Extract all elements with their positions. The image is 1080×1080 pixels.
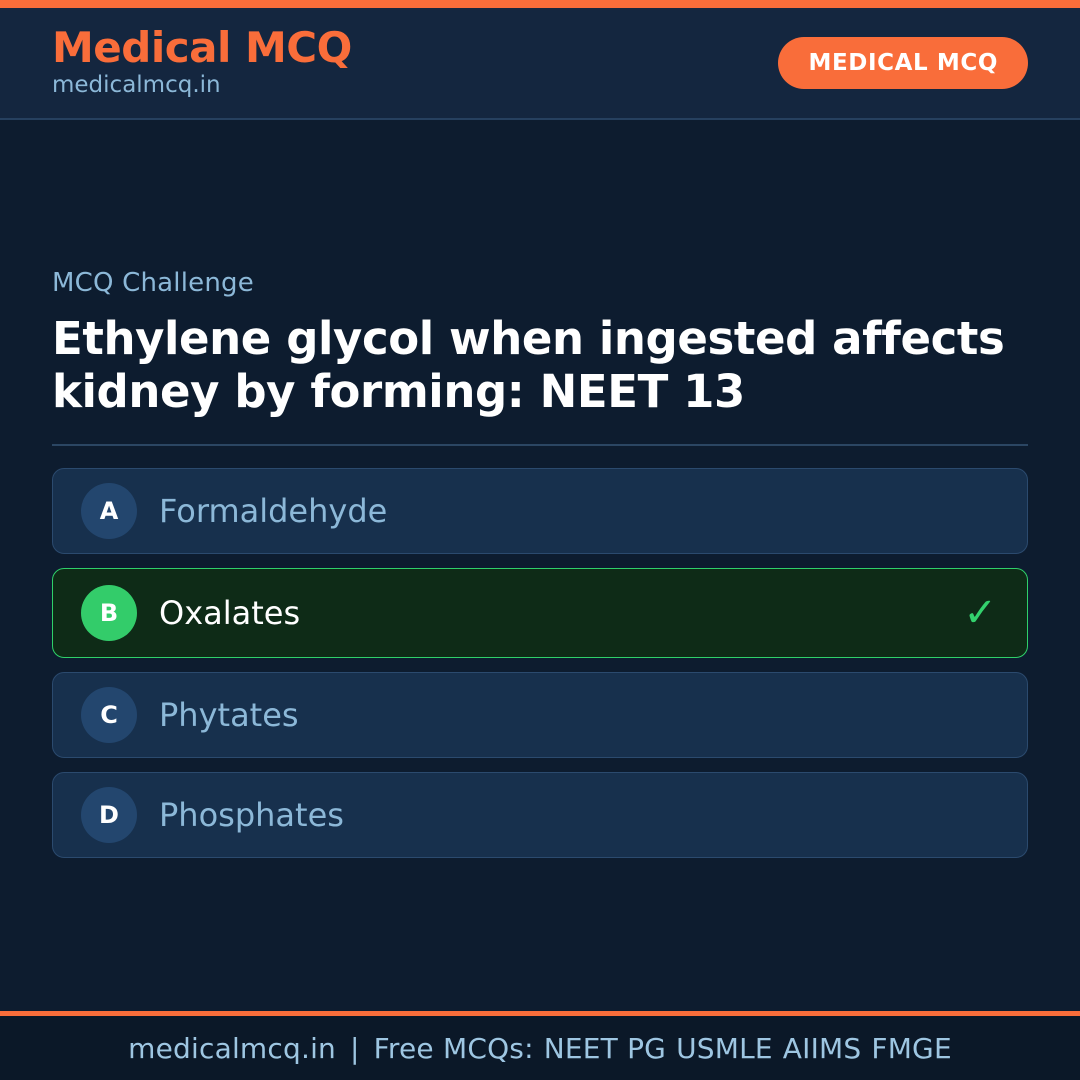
footer-exam-usmle: USMLE [666,1032,773,1065]
page-header: Medical MCQ medicalmcq.in MEDICAL MCQ [0,8,1080,120]
footer-exam-neet-pg: NEET PG [534,1032,666,1065]
option-letter-c: C [81,687,137,743]
option-row-c[interactable]: C Phytates ✓ [52,672,1028,758]
option-row-d[interactable]: D Phosphates ✓ [52,772,1028,858]
check-icon: ✓ [963,593,997,633]
option-text-c: Phytates [159,698,299,733]
top-accent-bar [0,0,1080,8]
brand-subtitle: medicalmcq.in [52,71,352,100]
options-list: A Formaldehyde ✓ B Oxalates ✓ C Phytates… [52,468,1028,858]
footer-text: medicalmcq.in|Free MCQs:NEET PGUSMLEAIIM… [128,1032,952,1065]
footer-label: Free MCQs: [374,1032,534,1065]
main-content: MCQ Challenge Ethylene glycol when inges… [0,120,1080,1011]
page-footer: medicalmcq.in|Free MCQs:NEET PGUSMLEAIIM… [0,1011,1080,1080]
option-letter-d: D [81,787,137,843]
footer-bar: medicalmcq.in|Free MCQs:NEET PGUSMLEAIIM… [0,1016,1080,1080]
footer-site: medicalmcq.in [128,1032,336,1065]
option-text-d: Phosphates [159,798,344,833]
brand-title: Medical MCQ [52,26,352,71]
option-letter-a: A [81,483,137,539]
question-divider [52,444,1028,446]
brand: Medical MCQ medicalmcq.in [52,26,352,100]
option-text-b: Oxalates [159,596,300,631]
option-text-a: Formaldehyde [159,494,387,529]
eyebrow-label: MCQ Challenge [52,268,1028,299]
question-text: Ethylene glycol when ingested affects ki… [52,313,1007,418]
footer-separator: | [336,1032,374,1065]
mcq-card: Medical MCQ medicalmcq.in MEDICAL MCQ MC… [0,0,1080,1080]
option-row-b[interactable]: B Oxalates ✓ [52,568,1028,658]
footer-exam-fmge: FMGE [861,1032,951,1065]
footer-exam-aiims: AIIMS [773,1032,862,1065]
medical-mcq-badge: MEDICAL MCQ [778,37,1028,89]
option-row-a[interactable]: A Formaldehyde ✓ [52,468,1028,554]
option-letter-b: B [81,585,137,641]
